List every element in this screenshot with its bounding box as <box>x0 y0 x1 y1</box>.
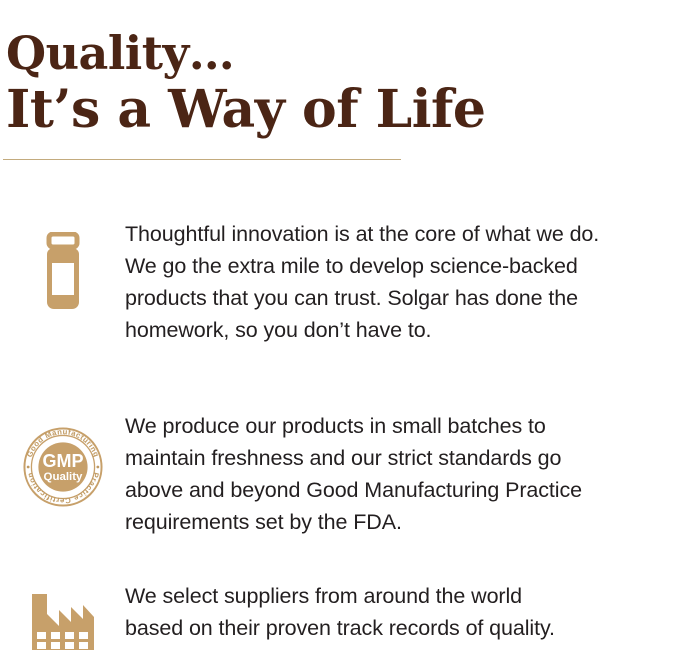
page-title-line-2: It’s a Way of Life <box>6 79 666 141</box>
gmp-text-cell: We produce our products in small batches… <box>125 410 679 538</box>
gmp-seal-cell: Good Manufacturing Practice Certificatio… <box>0 410 125 508</box>
gmp-quality-seal-icon: Good Manufacturing Practice Certificatio… <box>22 426 104 508</box>
feature-text-innovation: Thoughtful innovation is at the core of … <box>125 218 677 346</box>
feature-text-suppliers: We select suppliers from around the worl… <box>125 580 677 644</box>
seal-center-gmp: GMP <box>42 451 83 471</box>
feature-row-gmp: Good Manufacturing Practice Certificatio… <box>0 410 679 538</box>
factory-icon <box>26 588 100 656</box>
supplement-bottle-icon <box>31 232 95 312</box>
factory-icon-cell <box>0 580 125 656</box>
feature-text-batches: We produce our products in small batches… <box>125 410 677 538</box>
feature-row-factory: We select suppliers from around the worl… <box>0 580 679 656</box>
feature-row-bottle: Thoughtful innovation is at the core of … <box>0 218 679 346</box>
heading-divider <box>3 159 401 160</box>
page-title-line-1: Quality… <box>6 25 666 81</box>
page-title: Quality… It’s a Way of Life <box>6 25 666 141</box>
factory-text-cell: We select suppliers from around the worl… <box>125 580 679 644</box>
bottle-icon-cell <box>0 218 125 312</box>
bottle-text-cell: Thoughtful innovation is at the core of … <box>125 218 679 346</box>
seal-center-quality: Quality <box>43 471 82 483</box>
